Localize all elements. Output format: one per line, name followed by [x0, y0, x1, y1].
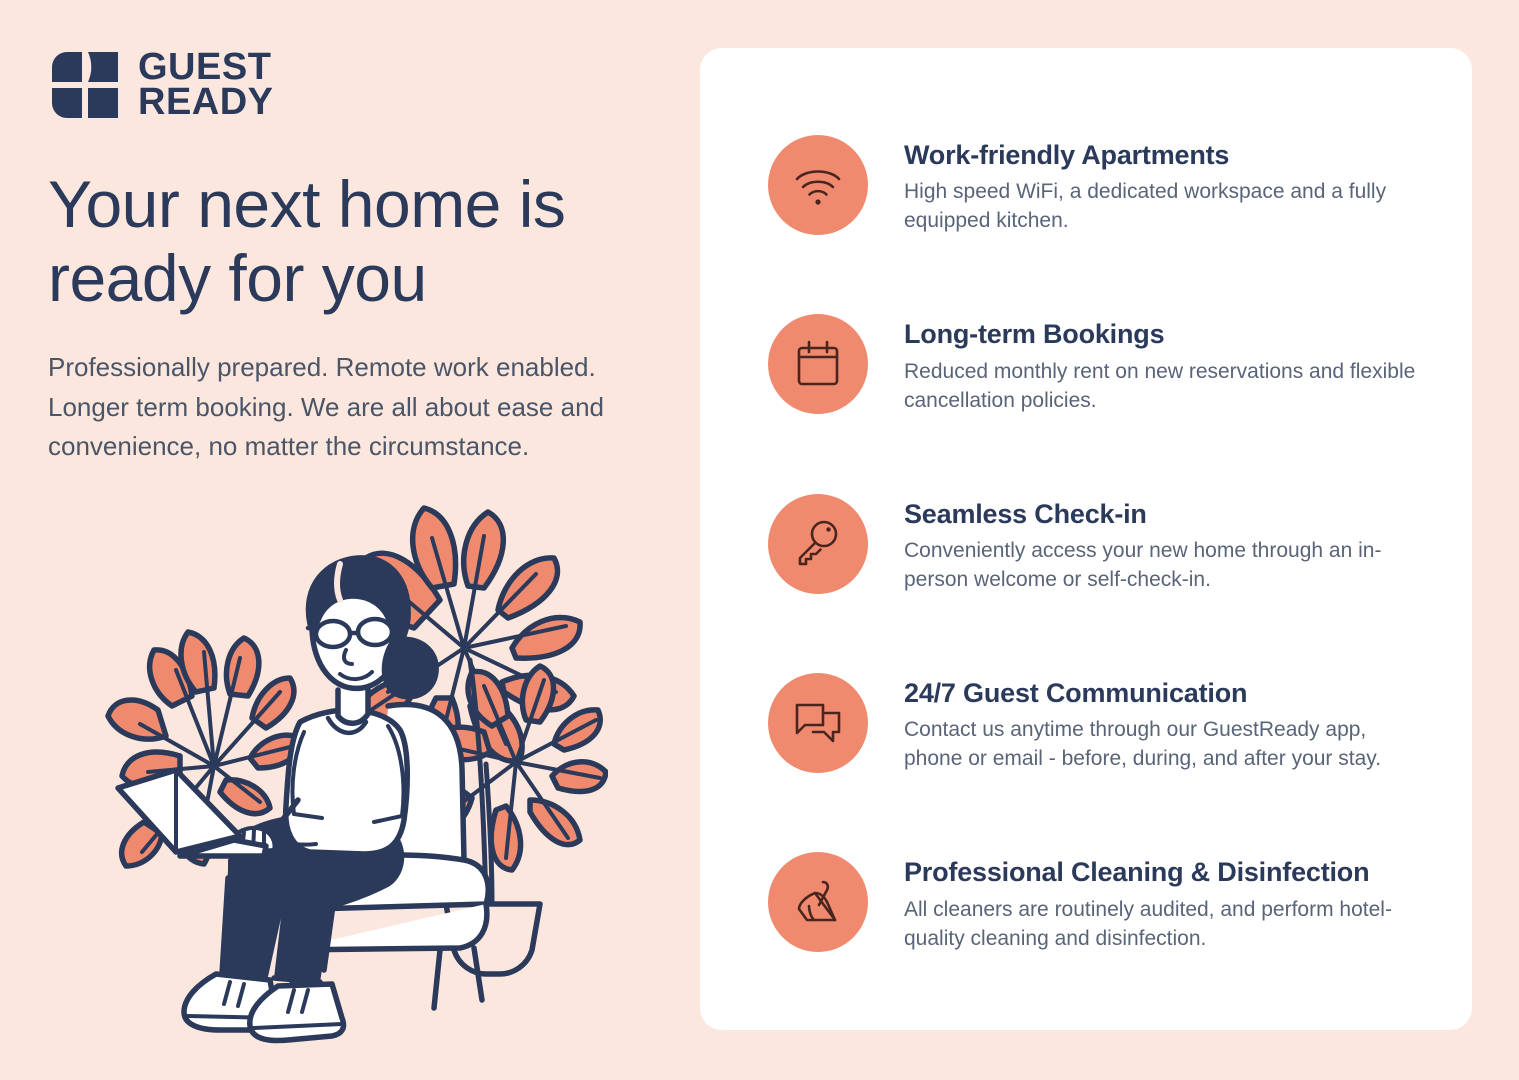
feature-item-seamless-check-in[interactable]: Seamless Check-in Conveniently access yo…	[768, 494, 1428, 595]
feature-description: Conveniently access your new home throug…	[904, 537, 1428, 595]
hero-panel: GUEST READY Your next home is ready for …	[0, 0, 700, 1080]
feature-description: Contact us anytime through our GuestRead…	[904, 716, 1428, 774]
brand-wordmark: GUEST READY	[138, 50, 274, 120]
feature-item-guest-communication[interactable]: 24/7 Guest Communication Contact us anyt…	[768, 673, 1428, 774]
feature-item-professional-cleaning[interactable]: Professional Cleaning & Disinfection All…	[768, 852, 1428, 953]
feature-icon-badge	[768, 135, 868, 235]
feature-item-long-term-bookings[interactable]: Long-term Bookings Reduced monthly rent …	[768, 314, 1428, 415]
hero-illustration	[88, 500, 608, 1060]
feature-description: High speed WiFi, a dedicated workspace a…	[904, 178, 1428, 236]
calendar-icon	[794, 339, 842, 389]
feature-icon-badge	[768, 852, 868, 952]
brand-logo[interactable]: GUEST READY	[48, 48, 274, 122]
feature-title: Professional Cleaning & Disinfection	[904, 856, 1428, 888]
feature-description: Reduced monthly rent on new reservations…	[904, 358, 1428, 416]
page-title: Your next home is ready for you	[48, 168, 668, 316]
feature-icon-badge	[768, 673, 868, 773]
feature-title: Seamless Check-in	[904, 498, 1428, 530]
feature-icon-badge	[768, 494, 868, 594]
key-icon	[794, 519, 842, 569]
feature-text: 24/7 Guest Communication Contact us anyt…	[904, 673, 1428, 774]
feature-list: Work-friendly Apartments High speed WiFi…	[768, 135, 1428, 954]
feature-title: Long-term Bookings	[904, 318, 1428, 350]
feature-text: Professional Cleaning & Disinfection All…	[904, 852, 1428, 953]
broom-icon	[793, 878, 843, 926]
wifi-icon	[792, 163, 844, 207]
feature-title: Work-friendly Apartments	[904, 139, 1428, 171]
feature-icon-badge	[768, 314, 868, 414]
guestready-quadrant-logo-icon	[48, 48, 122, 122]
feature-description: All cleaners are routinely audited, and …	[904, 896, 1428, 954]
feature-item-work-friendly-apartments[interactable]: Work-friendly Apartments High speed WiFi…	[768, 135, 1428, 236]
feature-text: Work-friendly Apartments High speed WiFi…	[904, 135, 1428, 236]
features-card: Work-friendly Apartments High speed WiFi…	[700, 48, 1472, 1030]
hero-subheadline: Professionally prepared. Remote work ena…	[48, 348, 623, 467]
chat-bubbles-icon	[793, 700, 843, 746]
feature-text: Long-term Bookings Reduced monthly rent …	[904, 314, 1428, 415]
feature-text: Seamless Check-in Conveniently access yo…	[904, 494, 1428, 595]
feature-title: 24/7 Guest Communication	[904, 677, 1428, 709]
